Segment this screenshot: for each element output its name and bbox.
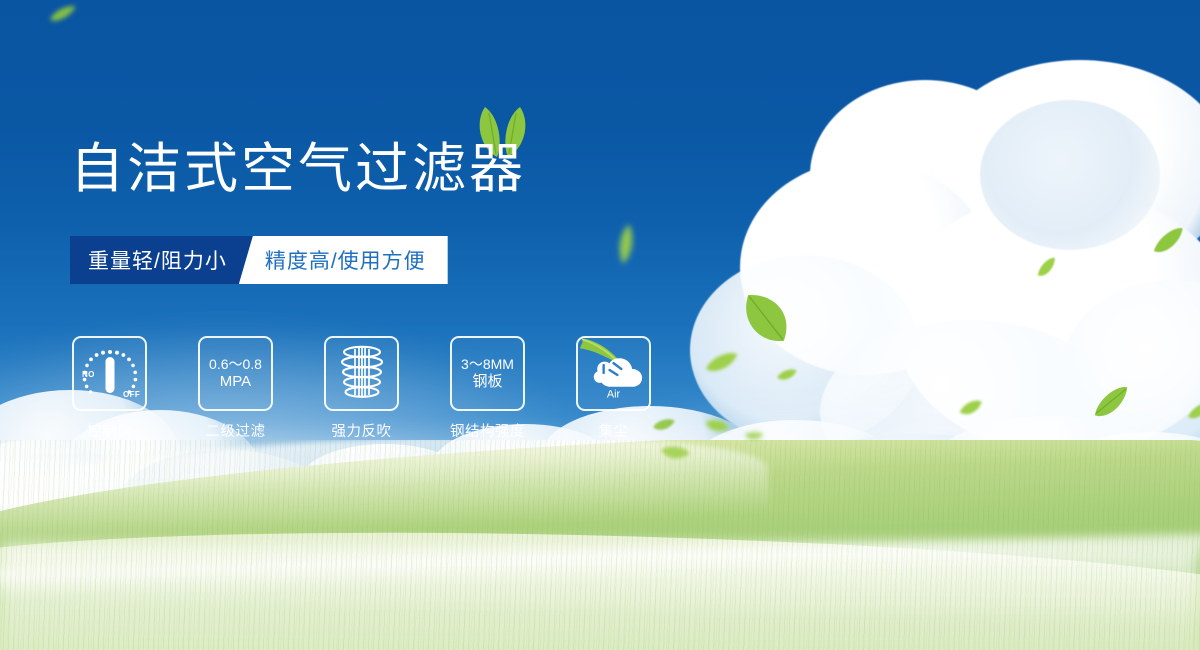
subtitle-tag-right: 精度高/使用方便 xyxy=(239,236,448,284)
svg-text:OFF: OFF xyxy=(123,390,140,399)
feature-label: 集尘 xyxy=(599,420,629,441)
feature-item-pressure[interactable]: 0.6～0.8 MPA 二级过滤 xyxy=(198,336,273,441)
feature-label: 二级过滤 xyxy=(206,420,266,441)
feature-label: 强力反吹 xyxy=(332,420,392,441)
feature-list: NO OFF 控制仪 0.6～0.8 MPA 二级过滤 xyxy=(72,336,651,441)
feature-label: 钢结构强度 xyxy=(450,420,525,441)
feature-item-blowback[interactable]: 强力反吹 xyxy=(324,336,399,441)
steel-thickness: 3～8MM xyxy=(461,356,514,372)
product-hero-banner: 自洁式空气过滤器 重量轻/阻力小 精度高/使用方便 xyxy=(0,0,1200,650)
air-label: Air xyxy=(607,388,621,400)
steel-material: 钢板 xyxy=(461,373,514,391)
steel-plate-text-icon: 3～8MM 钢板 xyxy=(450,336,525,411)
svg-text:NO: NO xyxy=(82,370,95,379)
feature-label: 控制仪 xyxy=(87,420,132,441)
feature-item-control-dial[interactable]: NO OFF 控制仪 xyxy=(72,336,147,441)
feature-item-dust-collection[interactable]: Air 集尘 xyxy=(576,336,651,441)
banner-content: 自洁式空气过滤器 重量轻/阻力小 精度高/使用方便 xyxy=(0,0,1200,650)
pressure-unit: MPA xyxy=(209,373,262,391)
pressure-value: 0.6～0.8 xyxy=(209,356,262,372)
page-title: 自洁式空气过滤器 xyxy=(70,142,526,196)
subtitle-tag-left: 重量轻/阻力小 xyxy=(70,236,253,284)
subtitle-bar: 重量轻/阻力小 精度高/使用方便 xyxy=(70,236,448,284)
control-dial-icon: NO OFF xyxy=(72,336,147,411)
air-cloud-icon: Air xyxy=(576,336,651,411)
feature-item-steel-plate[interactable]: 3～8MM 钢板 钢结构强度 xyxy=(450,336,525,441)
pressure-text-icon: 0.6～0.8 MPA xyxy=(198,336,273,411)
blowback-filter-icon xyxy=(324,336,399,411)
